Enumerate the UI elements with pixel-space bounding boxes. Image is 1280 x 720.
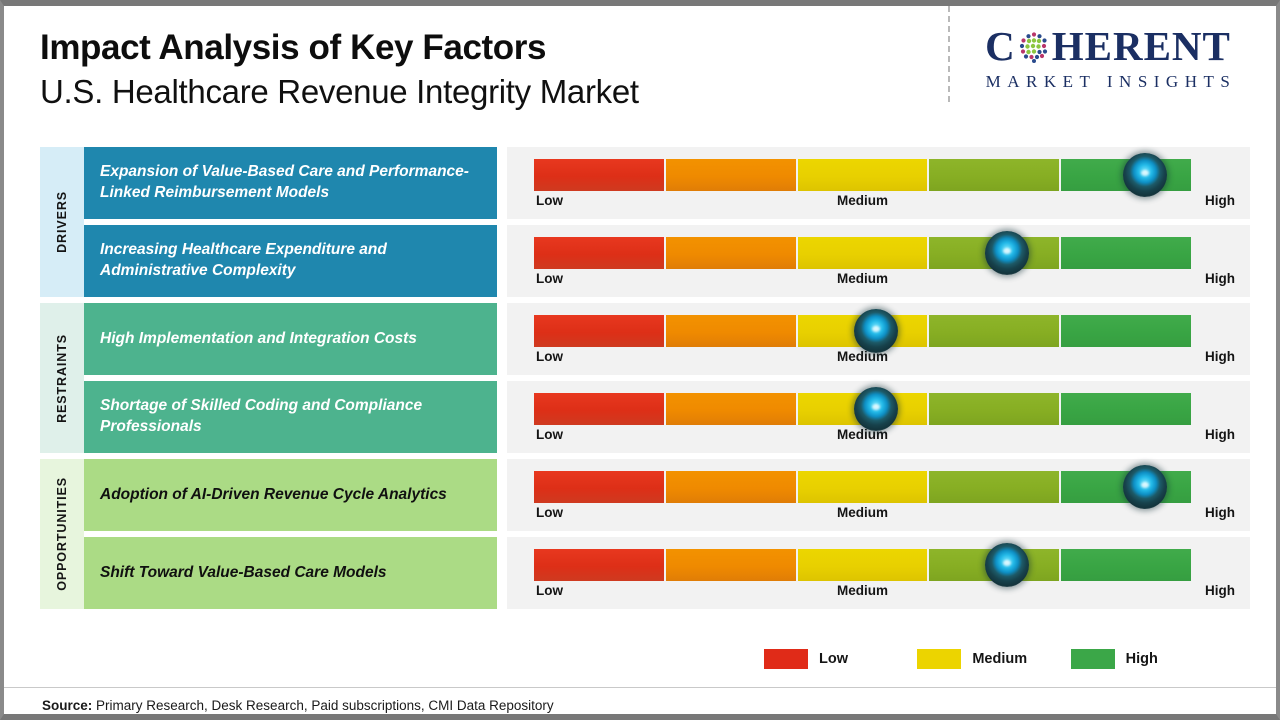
gauge-segment-2 [666,393,796,425]
factor-label: Shortage of Skilled Coding and Complianc… [84,381,497,453]
gauge-bar [534,471,1191,503]
gauge-segment-3 [798,471,928,503]
gauge-scale: LowMediumHigh [534,505,1191,527]
scale-label-high: High [1205,349,1235,364]
gauge-bar [534,393,1191,425]
factor-row: High Implementation and Integration Cost… [84,303,1250,375]
factor-label: Adoption of AI-Driven Revenue Cycle Anal… [84,459,497,531]
legend-item-low: Low [764,649,917,669]
gauge-scale: LowMediumHigh [534,271,1191,293]
scale-label-medium: Medium [837,349,888,364]
gauge-scale: LowMediumHigh [534,583,1191,605]
footer-divider [4,687,1276,688]
category-label-opportunities: OPPORTUNITIES [40,459,84,609]
gauge-segment-5 [1061,159,1191,191]
category-group-opportunities: OPPORTUNITIESAdoption of AI-Driven Reven… [40,459,1250,609]
gauge-segment-3 [798,237,928,269]
gauge-segment-1 [534,471,664,503]
gauge-segment-3 [798,393,928,425]
gauge-scale: LowMediumHigh [534,427,1191,449]
category-label-text: OPPORTUNITIES [55,477,69,591]
gauge-segment-5 [1061,393,1191,425]
scale-label-high: High [1205,583,1235,598]
legend-item-medium: Medium [917,649,1070,669]
category-label-text: DRIVERS [55,191,69,253]
factor-label: Expansion of Value-Based Care and Perfor… [84,147,497,219]
gauge-segment-4 [929,315,1059,347]
factor-row: Adoption of AI-Driven Revenue Cycle Anal… [84,459,1250,531]
scale-label-high: High [1205,271,1235,286]
factor-row: Shift Toward Value-Based Care ModelsLowM… [84,537,1250,609]
source-note: Source: Primary Research, Desk Research,… [42,698,554,713]
scale-label-low: Low [536,505,563,520]
impact-gauge: LowMediumHigh [507,537,1250,609]
impact-gauge: LowMediumHigh [507,147,1250,219]
legend-label: Medium [972,651,1027,667]
legend-swatch [764,649,808,669]
gauge-segment-5 [1061,471,1191,503]
gauge-segment-4 [929,237,1059,269]
scale-label-high: High [1205,505,1235,520]
scale-label-high: High [1205,427,1235,442]
factor-row: Increasing Healthcare Expenditure and Ad… [84,225,1250,297]
gauge-segment-1 [534,549,664,581]
logo-letters-herent: HERENT [1052,26,1231,67]
factor-label: High Implementation and Integration Cost… [84,303,497,375]
legend-swatch [917,649,961,669]
impact-gauge: LowMediumHigh [507,225,1250,297]
gauge-segment-2 [666,159,796,191]
gauge-segment-5 [1061,315,1191,347]
legend-label: High [1126,651,1158,667]
factor-row: Expansion of Value-Based Care and Perfor… [84,147,1250,219]
impact-gauge: LowMediumHigh [507,459,1250,531]
scale-label-low: Low [536,193,563,208]
gauge-bar [534,549,1191,581]
scale-label-medium: Medium [837,427,888,442]
brand-logo: C [958,26,1258,92]
scale-label-low: Low [536,427,563,442]
gauge-segment-3 [798,315,928,347]
category-rows: Adoption of AI-Driven Revenue Cycle Anal… [84,459,1250,609]
gauge-segment-3 [798,159,928,191]
gauge-bar [534,315,1191,347]
scale-label-medium: Medium [837,505,888,520]
logo-letter-c: C [985,26,1016,67]
factor-row: Shortage of Skilled Coding and Complianc… [84,381,1250,453]
header: Impact Analysis of Key Factors U.S. Heal… [40,28,900,112]
gauge-segment-2 [666,549,796,581]
category-rows: High Implementation and Integration Cost… [84,303,1250,453]
gauge-segment-4 [929,393,1059,425]
category-group-restraints: RESTRAINTSHigh Implementation and Integr… [40,303,1250,453]
gauge-segment-1 [534,159,664,191]
gauge-segment-1 [534,393,664,425]
category-rows: Expansion of Value-Based Care and Perfor… [84,147,1250,297]
gauge-segment-4 [929,549,1059,581]
legend-swatch [1071,649,1115,669]
factor-label: Increasing Healthcare Expenditure and Ad… [84,225,497,297]
logo-wordmark: C [958,26,1258,67]
category-label-text: RESTRAINTS [55,334,69,423]
logo-tagline: MARKET INSIGHTS [958,72,1258,92]
slide-canvas: Impact Analysis of Key Factors U.S. Heal… [0,0,1280,720]
globe-icon [1017,30,1051,64]
gauge-bar [534,237,1191,269]
gauge-segment-1 [534,315,664,347]
gauge-segment-2 [666,237,796,269]
logo-divider [948,6,950,102]
source-label: Source: [42,698,92,713]
gauge-segment-3 [798,549,928,581]
gauge-segment-4 [929,471,1059,503]
factor-label: Shift Toward Value-Based Care Models [84,537,497,609]
page-subtitle: U.S. Healthcare Revenue Integrity Market [40,73,900,112]
gauge-segment-2 [666,471,796,503]
gauge-segment-2 [666,315,796,347]
category-label-drivers: DRIVERS [40,147,84,297]
page-title: Impact Analysis of Key Factors [40,28,900,67]
gauge-segment-4 [929,159,1059,191]
impact-matrix: DRIVERSExpansion of Value-Based Care and… [40,147,1250,615]
impact-gauge: LowMediumHigh [507,303,1250,375]
source-text: Primary Research, Desk Research, Paid su… [92,698,553,713]
scale-label-low: Low [536,583,563,598]
category-label-restraints: RESTRAINTS [40,303,84,453]
legend-item-high: High [1071,649,1224,669]
gauge-segment-5 [1061,237,1191,269]
legend: LowMediumHigh [764,649,1224,669]
scale-label-medium: Medium [837,583,888,598]
scale-label-medium: Medium [837,271,888,286]
scale-label-low: Low [536,349,563,364]
gauge-bar [534,159,1191,191]
gauge-scale: LowMediumHigh [534,349,1191,371]
scale-label-low: Low [536,271,563,286]
scale-label-medium: Medium [837,193,888,208]
impact-gauge: LowMediumHigh [507,381,1250,453]
legend-label: Low [819,651,848,667]
scale-label-high: High [1205,193,1235,208]
gauge-scale: LowMediumHigh [534,193,1191,215]
gauge-segment-5 [1061,549,1191,581]
gauge-segment-1 [534,237,664,269]
category-group-drivers: DRIVERSExpansion of Value-Based Care and… [40,147,1250,297]
